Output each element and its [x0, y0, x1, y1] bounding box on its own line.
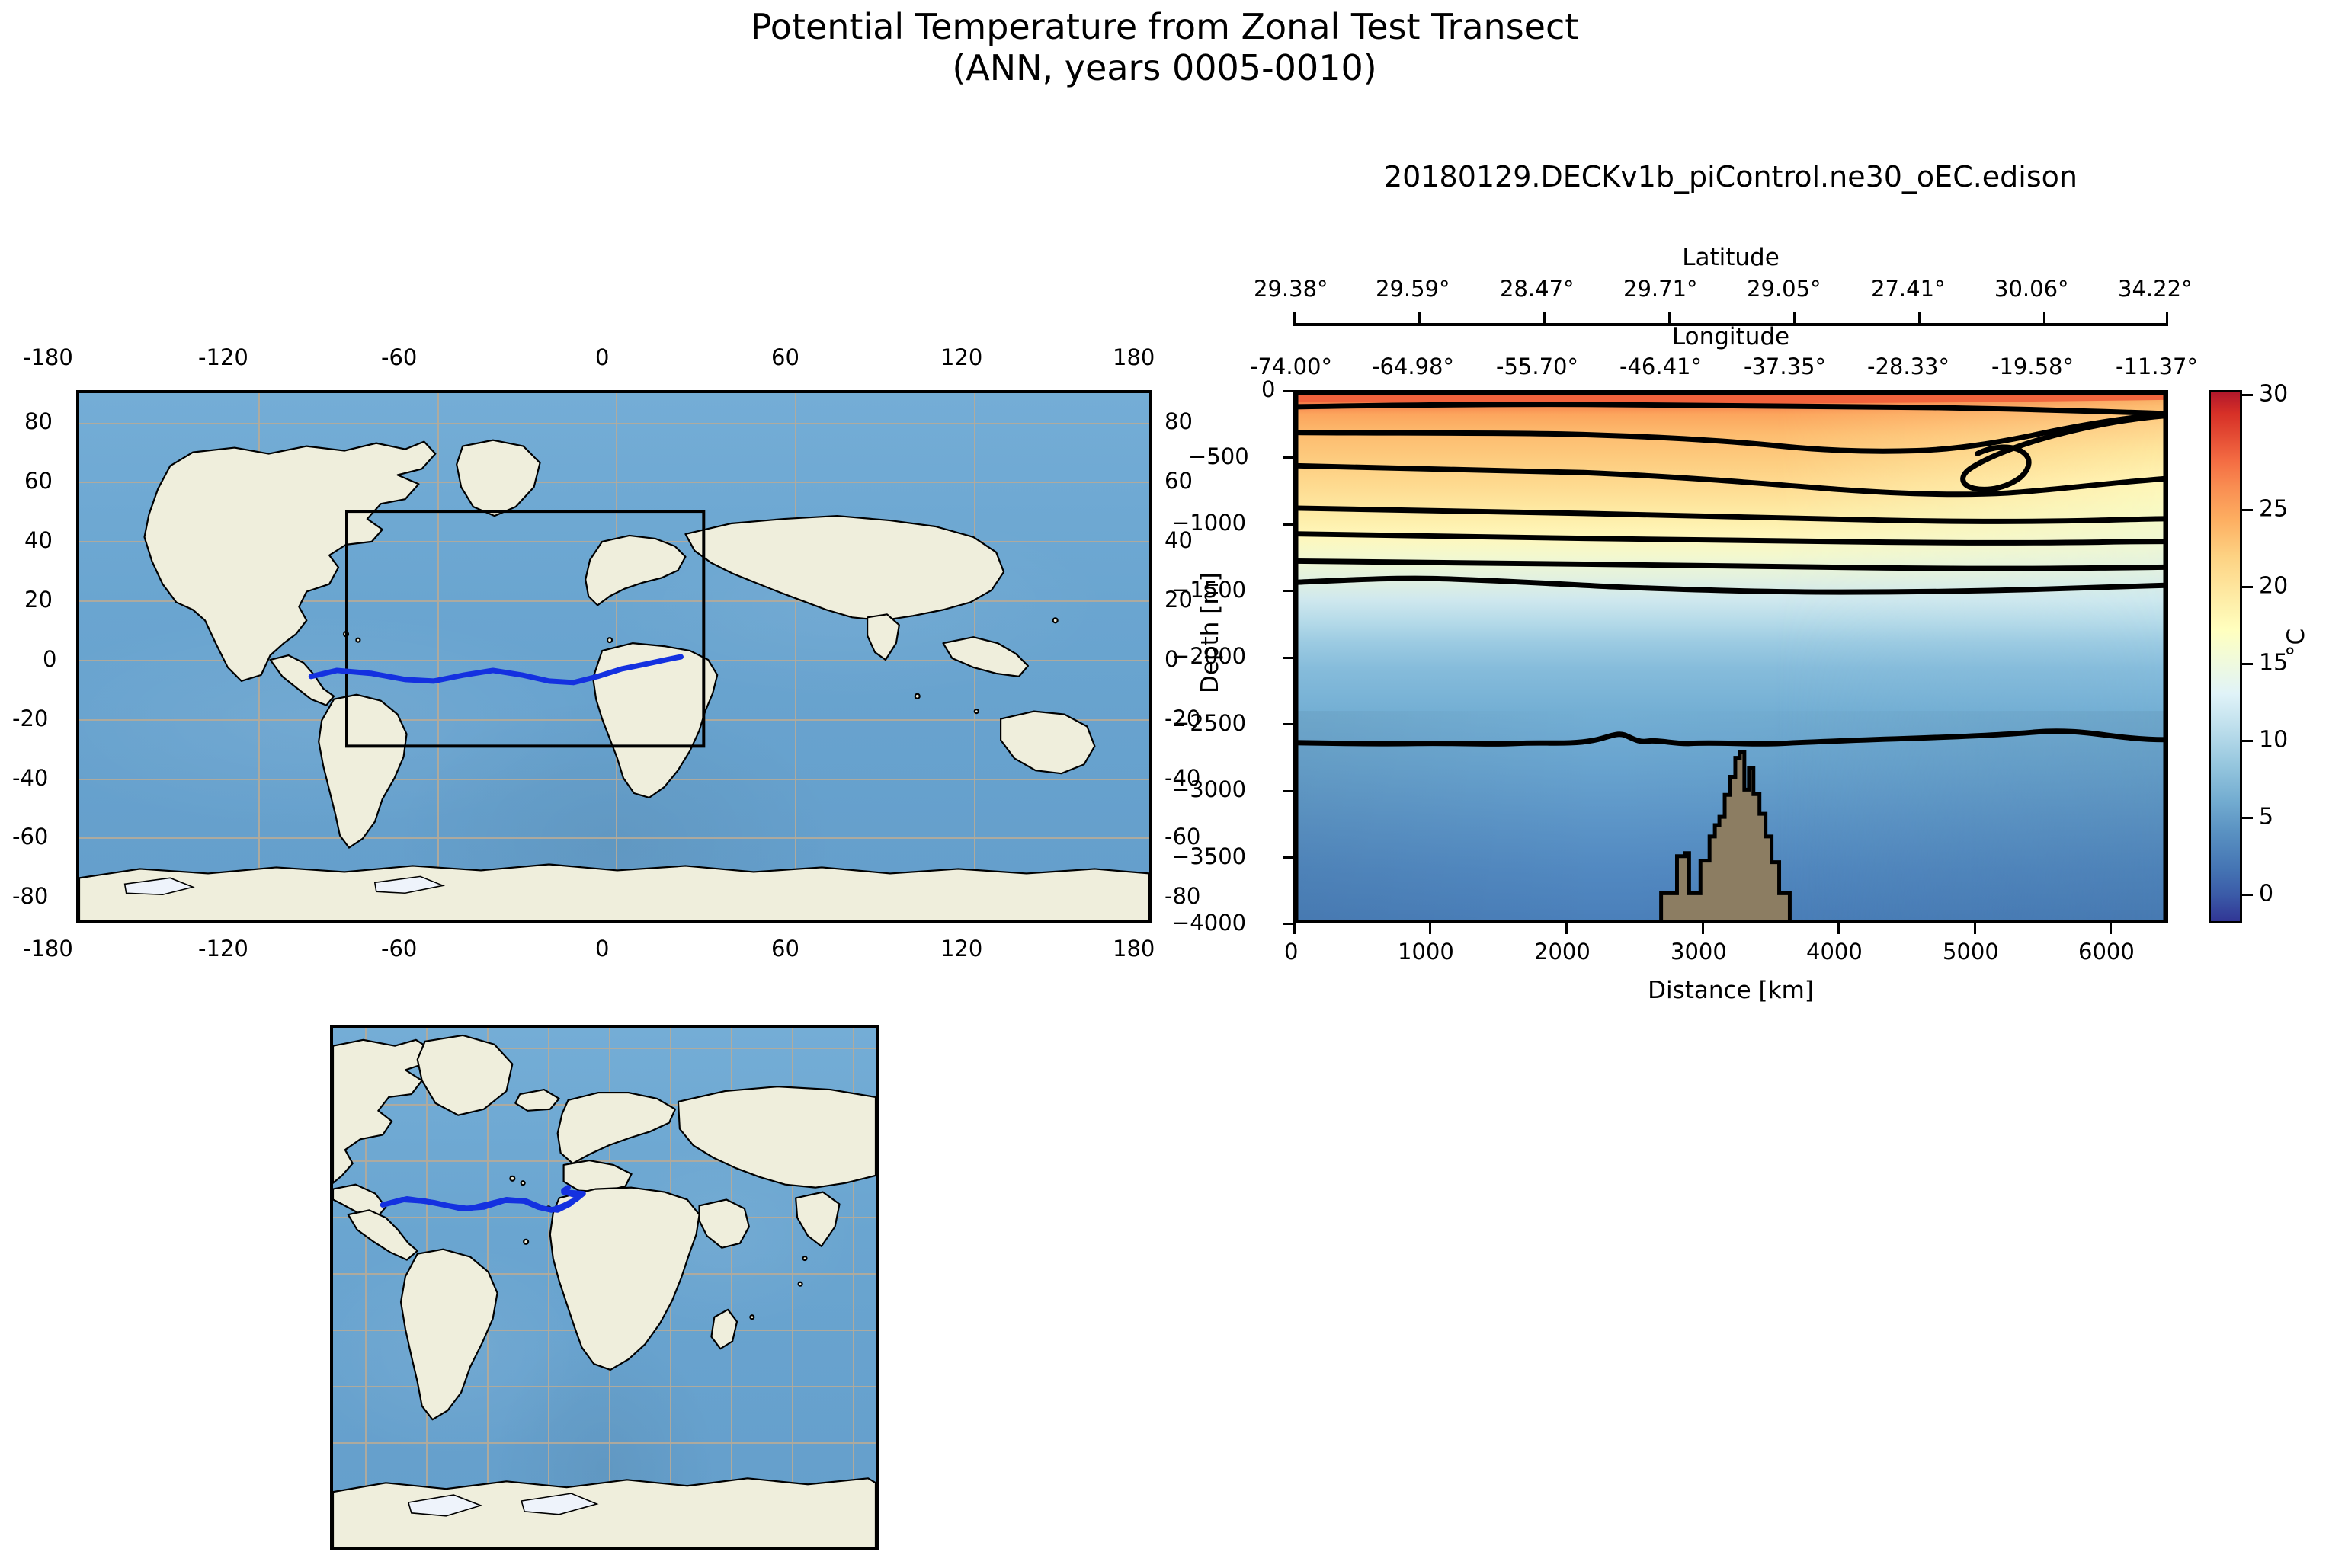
- figure-title: Potential Temperature from Zonal Test Tr…: [0, 6, 2329, 89]
- colorbar-tick-6: 30: [2259, 381, 2288, 408]
- lat-tick-1: 29.59°: [1376, 276, 1450, 302]
- distance-tick-1: 1000: [1398, 939, 1454, 965]
- world-lat-tick-l-7: -60: [12, 824, 48, 850]
- world-lon-tick-top-6: 180: [1113, 344, 1155, 370]
- lat-tick-7: 34.22°: [2118, 276, 2193, 302]
- world-lat-tick-l-0: 80: [24, 408, 53, 434]
- transect-temperature-field: [1296, 393, 2165, 923]
- lon-tick-0: -74.00°: [1250, 354, 1332, 379]
- colorbar-tick-1: 5: [2259, 804, 2273, 830]
- lat-tick-5: 27.41°: [1871, 276, 1946, 302]
- lat-tick-3: 29.71°: [1623, 276, 1698, 302]
- world-lat-tick-l-1: 60: [24, 468, 53, 494]
- world-lat-tick-r-1: 60: [1164, 468, 1193, 494]
- lat-tick-0: 29.38°: [1254, 276, 1328, 302]
- world-lat-tick-l-3: 20: [24, 587, 53, 613]
- global-map-panel[interactable]: 80 60 40 20 0 -20 -40 -60 -80 80 60 40 2…: [76, 390, 1152, 923]
- colorbar-tick-2: 10: [2259, 727, 2288, 754]
- world-lat-tick-l-2: 40: [24, 527, 53, 553]
- depth-tick-5: −2500: [1171, 710, 1246, 736]
- latitude-axis-title: Latitude: [1293, 244, 2168, 271]
- lat-tick-2: 28.47°: [1500, 276, 1575, 302]
- global-map-frame: [76, 390, 1152, 923]
- transect-plot-panel[interactable]: 0 −500 −1000 −1500 −2000 −2500 −3000 −35…: [1293, 390, 2168, 923]
- figure-title-line-2: (ANN, years 0005-0010): [0, 47, 2329, 88]
- world-lon-tick-top-2: -60: [381, 344, 417, 370]
- world-lon-tick-top-4: 60: [771, 344, 799, 370]
- inset-map-frame: [330, 1025, 879, 1550]
- lon-tick-2: -55.70°: [1496, 354, 1578, 379]
- world-lon-tick-bot-1: -120: [198, 936, 248, 962]
- distance-tick-6: 6000: [2078, 939, 2135, 965]
- distance-tick-2: 2000: [1534, 939, 1591, 965]
- regional-inset-map-panel[interactable]: [330, 1025, 879, 1550]
- world-lon-tick-bot-4: 60: [771, 936, 799, 962]
- lon-tick-1: -64.98°: [1372, 354, 1454, 379]
- transect-frame: [1293, 390, 2168, 923]
- depth-tick-6: −3000: [1171, 776, 1246, 802]
- inset-coastlines: [333, 1028, 876, 1547]
- lat-tick-4: 29.05°: [1747, 276, 1821, 302]
- colorbar-tick-0: 0: [2259, 881, 2273, 907]
- world-lon-tick-top-1: -120: [198, 344, 248, 370]
- lon-tick-4: -37.35°: [1744, 354, 1826, 379]
- world-lat-tick-r-8: -80: [1164, 883, 1200, 909]
- longitude-axis-title: Longitude: [1293, 323, 2168, 350]
- world-lon-tick-bot-3: 0: [595, 936, 609, 962]
- depth-axis-title: Depth [m]: [1197, 572, 1224, 693]
- lon-tick-3: -46.41°: [1619, 354, 1702, 379]
- world-lon-tick-top-3: 0: [595, 344, 609, 370]
- world-coastlines: [79, 393, 1149, 923]
- lon-tick-5: -28.33°: [1867, 354, 1949, 379]
- depth-tick-7: −3500: [1171, 843, 1246, 869]
- colorbar-tick-4: 20: [2259, 573, 2288, 600]
- world-lat-tick-l-6: -40: [12, 765, 48, 791]
- depth-tick-8: −4000: [1171, 910, 1246, 936]
- depth-tick-0: 0: [1261, 376, 1275, 402]
- colorbar-tick-5: 25: [2259, 496, 2288, 523]
- world-lat-tick-r-0: 80: [1164, 408, 1193, 434]
- run-name-label: 20180129.DECKv1b_piControl.ne30_oEC.edis…: [1293, 160, 2168, 194]
- lat-tick-6: 30.06°: [1994, 276, 2069, 302]
- inset-transect-path-main: [383, 1192, 578, 1211]
- lon-tick-7: -11.37°: [2116, 354, 2198, 379]
- colorbar-gradient: [2209, 390, 2242, 923]
- distance-tick-5: 5000: [1943, 939, 1999, 965]
- distance-axis-title: Distance [km]: [1293, 977, 2168, 1004]
- lon-tick-6: -19.58°: [1991, 354, 2074, 379]
- world-lon-tick-bot-2: -60: [381, 936, 417, 962]
- world-lon-tick-top-5: 120: [940, 344, 982, 370]
- colorbar-unit-label: °C: [2283, 629, 2310, 657]
- world-lon-tick-top-0: -180: [23, 344, 73, 370]
- distance-tick-3: 3000: [1671, 939, 1727, 965]
- world-lat-tick-l-5: -20: [12, 706, 48, 731]
- world-lat-tick-l-8: -80: [12, 883, 48, 909]
- distance-tick-0: 0: [1284, 939, 1298, 965]
- world-lat-tick-l-4: 0: [43, 646, 56, 672]
- world-lon-tick-bot-6: 180: [1113, 936, 1155, 962]
- figure-title-line-1: Potential Temperature from Zonal Test Tr…: [0, 6, 2329, 47]
- depth-tick-2: −1000: [1171, 510, 1246, 536]
- temperature-colorbar[interactable]: 0 5 10 15 20 25 30: [2209, 390, 2242, 923]
- distance-tick-4: 4000: [1806, 939, 1863, 965]
- depth-tick-1: −500: [1188, 443, 1249, 469]
- world-lon-tick-bot-5: 120: [940, 936, 982, 962]
- world-lon-tick-bot-0: -180: [23, 936, 73, 962]
